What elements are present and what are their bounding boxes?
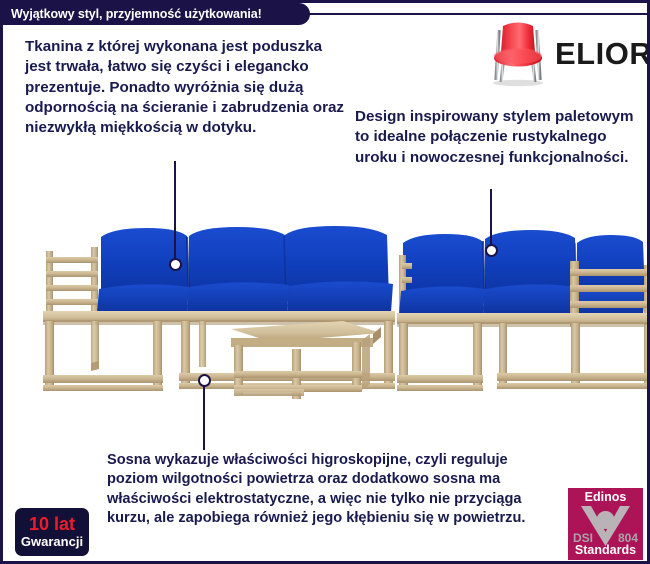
callout-text-pine: Sosna wykazuje właściwości higroskopijne…: [107, 451, 559, 529]
callout-pointer-dot-design: [485, 244, 498, 257]
corner-sofa-left: [43, 226, 395, 391]
header-ribbon: Wyjątkowy styl, przyjemność użytkowania!: [3, 3, 310, 25]
callout-pointer-dot-fabric: [169, 258, 182, 271]
brand-name: ELIOR: [555, 38, 650, 69]
edinos-standards-badge: Edinos DSI 804 Standards: [568, 488, 643, 560]
product-photo-pallet-sofa-set: [3, 203, 650, 443]
callout-line-pine: [203, 378, 205, 450]
page-title: Wyjątkowy styl, przyjemność użytkowania!: [11, 7, 262, 21]
warranty-years: 10 lat: [29, 515, 75, 533]
coffee-table-center: [231, 321, 381, 399]
callout-text-design: Design inspirowany stylem paletowym to i…: [355, 107, 645, 168]
callout-line-design: [490, 189, 492, 251]
callout-line-fabric: [174, 161, 176, 265]
warranty-label: Gwarancji: [21, 535, 83, 549]
edinos-title: Edinos: [568, 490, 643, 504]
header-divider-rule: [303, 13, 650, 15]
callout-pointer-dot-pine: [198, 374, 211, 387]
promo-infographic: Wyjątkowy styl, przyjemność użytkowania!: [0, 0, 650, 564]
callout-text-fabric: Tkanina z której wykonana jest poduszka …: [25, 37, 347, 139]
edinos-standards-label: Standards: [568, 543, 643, 557]
brand-logo: ELIOR: [487, 17, 647, 89]
red-chair-icon: [487, 18, 549, 88]
warranty-badge: 10 lat Gwarancji: [15, 508, 89, 556]
corner-sofa-right: [397, 230, 650, 391]
